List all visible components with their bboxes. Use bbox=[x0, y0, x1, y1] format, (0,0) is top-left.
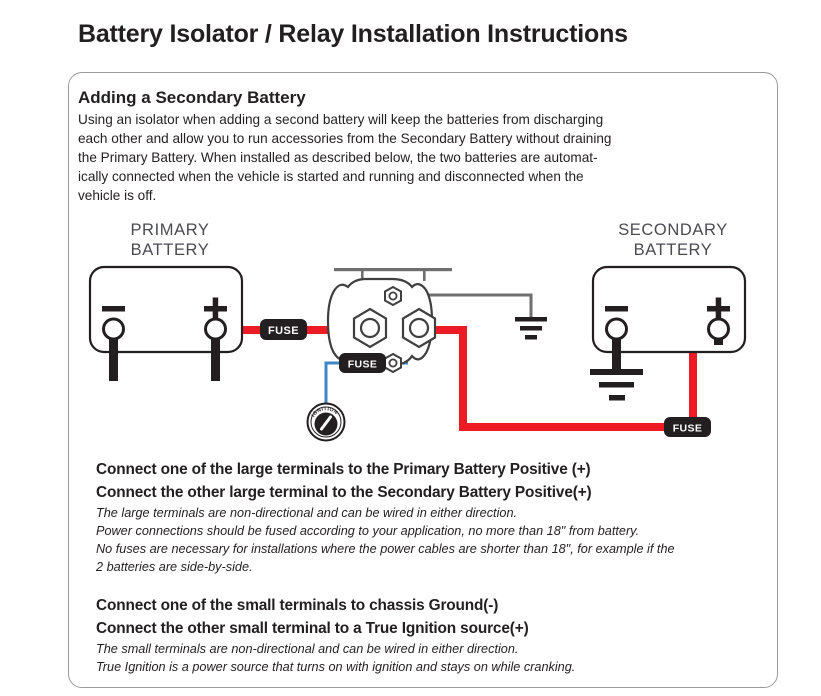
intro-paragraph-line: each other and allow you to run accessor… bbox=[78, 131, 611, 146]
page-title: Battery Isolator / Relay Installation In… bbox=[78, 20, 778, 49]
fuse-label-ignition: FUSE bbox=[348, 359, 378, 371]
secondary-negative-sign bbox=[605, 306, 628, 312]
small-terminal-instruction: Connect the other small terminal to a Tr… bbox=[96, 620, 529, 638]
intro-paragraph-line: ically connected when the vehicle is sta… bbox=[78, 169, 584, 184]
isolator-mounting-bracket bbox=[334, 268, 452, 271]
primary-negative-terminal bbox=[104, 319, 124, 339]
large-terminal-note: Power connections should be fused accord… bbox=[96, 524, 639, 538]
primary-battery-label-line2: BATTERY bbox=[90, 240, 250, 260]
secondary-battery bbox=[590, 267, 745, 401]
secondary-negative-terminal bbox=[607, 319, 627, 339]
intro-paragraph-line: the Primary Battery. When installed as d… bbox=[78, 150, 598, 165]
intro-paragraph-line: vehicle is off. bbox=[78, 188, 156, 203]
ground-symbol-isolator bbox=[515, 317, 547, 340]
primary-positive-terminal bbox=[206, 319, 226, 339]
large-terminal-note: 2 batteries are side-by-side. bbox=[96, 560, 253, 574]
small-terminal-note: The small terminals are non-directional … bbox=[96, 642, 518, 656]
fuse-badge-secondary: FUSE bbox=[664, 417, 711, 437]
secondary-positive-terminal bbox=[709, 319, 729, 339]
fuse-badge-ignition: FUSE bbox=[339, 353, 386, 373]
isolator-small-terminal-ground bbox=[385, 287, 401, 305]
isolator-large-terminal-right bbox=[403, 309, 435, 347]
section-heading: Adding a Secondary Battery bbox=[78, 88, 306, 108]
primary-battery-label: PRIMARY BATTERY bbox=[90, 220, 250, 260]
isolator-small-terminal-ignition bbox=[385, 354, 401, 372]
small-terminal-note: True Ignition is a power source that tur… bbox=[96, 660, 575, 674]
large-terminal-instruction: Connect one of the large terminals to th… bbox=[96, 461, 591, 479]
large-terminal-note: The large terminals are non-directional … bbox=[96, 506, 517, 520]
ground-symbol-secondary bbox=[590, 369, 643, 401]
ignition-switch-icon: IGNITION bbox=[308, 404, 345, 441]
intro-paragraph-line: Using an isolator when adding a second b… bbox=[78, 112, 603, 127]
isolator-large-terminal-left bbox=[354, 309, 386, 347]
fuse-label-primary: FUSE bbox=[268, 325, 299, 337]
large-terminal-note: No fuses are necessary for installations… bbox=[96, 542, 675, 556]
primary-battery-label-line1: PRIMARY bbox=[90, 220, 250, 240]
large-terminal-instruction: Connect the other large terminal to the … bbox=[96, 484, 592, 502]
fuse-badge-primary: FUSE bbox=[260, 319, 307, 340]
fuse-label-secondary: FUSE bbox=[673, 423, 703, 435]
primary-battery bbox=[90, 267, 242, 381]
primary-negative-sign bbox=[102, 306, 125, 312]
small-terminal-instruction: Connect one of the small terminals to ch… bbox=[96, 597, 498, 615]
secondary-battery-label-line2: BATTERY bbox=[593, 240, 753, 260]
secondary-battery-label-line1: SECONDARY bbox=[593, 220, 753, 240]
secondary-battery-label: SECONDARY BATTERY bbox=[593, 220, 753, 260]
